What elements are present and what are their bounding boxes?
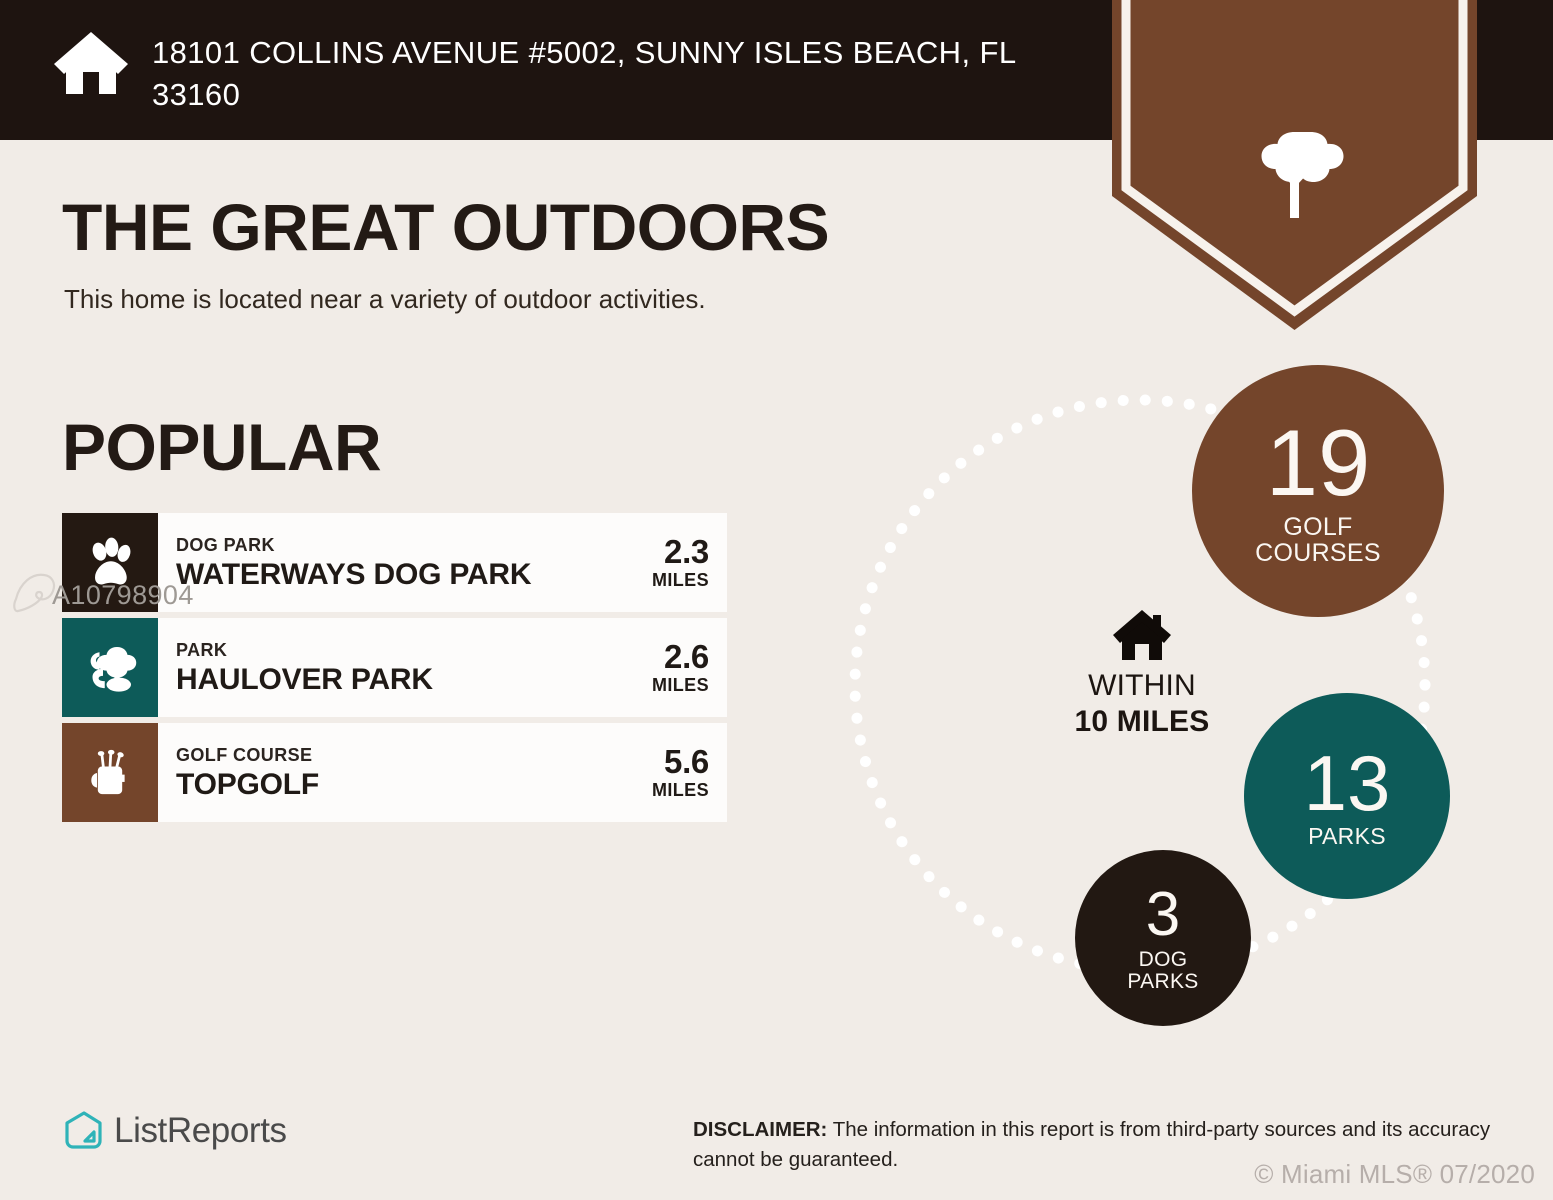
listreports-logo-text: ListReports — [114, 1111, 287, 1151]
popular-places-list: DOG PARK WATERWAYS DOG PARK 2.3 MILES — [62, 513, 727, 828]
stat-value: 19 — [1266, 416, 1371, 510]
list-item-body: PARK HAULOVER PARK 2.6 MILES — [158, 618, 727, 717]
list-item-name: WATERWAYS DOG PARK — [176, 557, 531, 592]
stat-circle-dog-parks: 3 DOG PARKS — [1075, 850, 1251, 1026]
home-icon — [52, 30, 130, 96]
list-item-text: PARK HAULOVER PARK — [176, 639, 433, 697]
list-item-text: GOLF COURSE TOPGOLF — [176, 744, 319, 802]
list-item[interactable]: GOLF COURSE TOPGOLF 5.6 MILES — [62, 723, 727, 822]
property-address: 18101 COLLINS AVENUE #5002, SUNNY ISLES … — [152, 32, 1052, 116]
list-item-body: GOLF COURSE TOPGOLF 5.6 MILES — [158, 723, 727, 822]
list-item-distance: 2.6 MILES — [652, 640, 709, 696]
list-item-category: GOLF COURSE — [176, 744, 319, 766]
stat-circle-golf-courses: 19 GOLF COURSES — [1192, 365, 1444, 617]
list-item-body: DOG PARK WATERWAYS DOG PARK 2.3 MILES — [158, 513, 727, 612]
page-title: THE GREAT OUTDOORS — [62, 192, 829, 262]
diagram-center: WITHIN 10 MILES — [1052, 608, 1232, 740]
tree-path-icon — [62, 618, 158, 717]
listreports-logo[interactable]: ListReports — [64, 1110, 287, 1152]
outdoor-report-badge — [1112, 0, 1477, 330]
stat-label-line2: PARKS — [1127, 971, 1198, 993]
list-item-category: DOG PARK — [176, 534, 531, 556]
stat-circle-parks: 13 PARKS — [1244, 693, 1450, 899]
list-item-name: TOPGOLF — [176, 767, 319, 802]
list-item-text: DOG PARK WATERWAYS DOG PARK — [176, 534, 531, 592]
list-item-distance-value: 5.6 — [664, 745, 709, 779]
list-item-distance: 5.6 MILES — [652, 745, 709, 801]
list-item-name: HAULOVER PARK — [176, 662, 433, 697]
list-item-distance-unit: MILES — [652, 779, 709, 801]
stat-label-line2: COURSES — [1255, 540, 1381, 566]
section-heading-popular: POPULAR — [62, 412, 381, 482]
diagram-center-line2: 10 MILES — [1052, 704, 1232, 740]
stat-label-line1: DOG — [1139, 949, 1188, 971]
list-item-distance-unit: MILES — [652, 674, 709, 696]
stat-label-line1: PARKS — [1308, 825, 1386, 849]
stat-label-line1: GOLF — [1283, 514, 1352, 540]
golf-bag-icon — [62, 723, 158, 822]
list-item-distance-unit: MILES — [652, 569, 709, 591]
copyright-watermark: © Miami MLS® 07/2020 — [1254, 1159, 1535, 1190]
disclaimer-label: DISCLAIMER: — [693, 1118, 827, 1141]
within-10-miles-diagram: 19 GOLF COURSES 13 PARKS 3 DOG PARKS WIT… — [820, 355, 1520, 1035]
outdoor-report-page: 18101 COLLINS AVENUE #5002, SUNNY ISLES … — [0, 0, 1553, 1200]
list-item-distance-value: 2.3 — [664, 535, 709, 569]
page-subtitle: This home is located near a variety of o… — [64, 284, 706, 315]
list-item[interactable]: PARK HAULOVER PARK 2.6 MILES — [62, 618, 727, 717]
stat-value: 3 — [1146, 884, 1180, 946]
list-item-distance-value: 2.6 — [664, 640, 709, 674]
diagram-center-line1: WITHIN — [1052, 668, 1232, 704]
listreports-house-tag-icon — [64, 1110, 104, 1152]
mls-id-watermark: A10798904 — [52, 580, 194, 611]
home-icon — [1111, 608, 1173, 662]
list-item-distance: 2.3 MILES — [652, 535, 709, 591]
list-item-category: PARK — [176, 639, 433, 661]
stat-value: 13 — [1304, 744, 1391, 822]
